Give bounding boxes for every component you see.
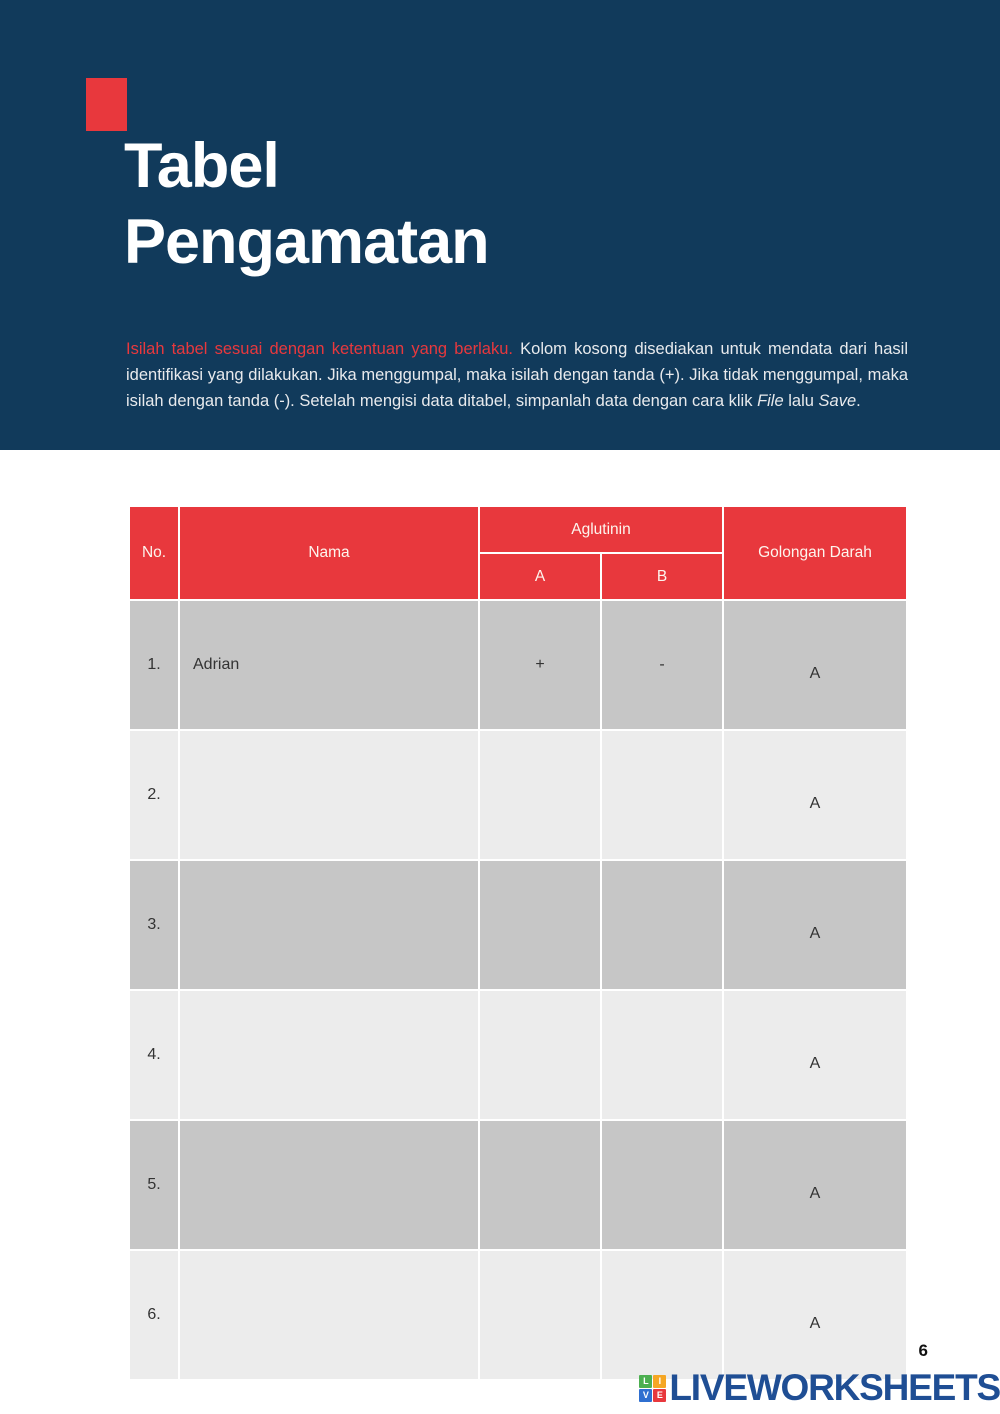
table-row: 1. Adrian + - A [130, 601, 906, 729]
liveworksheets-mark-icon: L I V E [639, 1375, 666, 1402]
liveworksheets-logo[interactable]: L I V E LIVEWORKSHEETS [639, 1371, 1000, 1405]
page-number: 6 [919, 1341, 928, 1361]
logo-tile-l: L [639, 1375, 652, 1388]
table-head: No. Nama Aglutinin Golongan Darah A B [130, 507, 906, 599]
cell-aglutinin-b[interactable] [602, 731, 722, 859]
table-row: 6. A [130, 1251, 906, 1379]
cell-no: 6. [130, 1251, 178, 1379]
cell-golongan-darah[interactable]: A [724, 1121, 906, 1249]
cell-aglutinin-a[interactable]: + [480, 601, 600, 729]
cell-golongan-darah[interactable]: A [724, 1251, 906, 1379]
table-row: 4. A [130, 991, 906, 1119]
column-header-aglutinin-a: A [480, 554, 600, 599]
table-row: 2. A [130, 731, 906, 859]
cell-no: 1. [130, 601, 178, 729]
table-header-row-1: No. Nama Aglutinin Golongan Darah [130, 507, 906, 552]
cell-nama[interactable] [180, 1251, 478, 1379]
cell-no: 5. [130, 1121, 178, 1249]
table-row: 5. A [130, 1121, 906, 1249]
instructions-paragraph: Isilah tabel sesuai dengan ketentuan yan… [126, 336, 908, 414]
cell-golongan-darah[interactable]: A [724, 601, 906, 729]
column-header-aglutinin-b: B [602, 554, 722, 599]
cell-aglutinin-b[interactable]: - [602, 601, 722, 729]
column-header-no: No. [130, 507, 178, 599]
header-band: Tabel Pengamatan Isilah tabel sesuai den… [0, 0, 1000, 450]
cell-aglutinin-a[interactable] [480, 861, 600, 989]
table-body: 1. Adrian + - A 2. A 3. A 4. A [130, 601, 906, 1379]
logo-tile-v: V [639, 1389, 652, 1402]
page-title-line-2: Pengamatan [124, 204, 904, 280]
cell-no: 4. [130, 991, 178, 1119]
cell-nama[interactable] [180, 731, 478, 859]
cell-no: 2. [130, 731, 178, 859]
table-row: 3. A [130, 861, 906, 989]
cell-nama[interactable] [180, 861, 478, 989]
cell-aglutinin-a[interactable] [480, 731, 600, 859]
cell-golongan-darah[interactable]: A [724, 861, 906, 989]
instructions-lead: Isilah tabel sesuai dengan ketentuan yan… [126, 340, 513, 358]
cell-nama[interactable] [180, 1121, 478, 1249]
cell-aglutinin-a[interactable] [480, 1121, 600, 1249]
logo-tile-e: E [653, 1389, 666, 1402]
cell-no: 3. [130, 861, 178, 989]
instructions-rest-3: . [856, 392, 861, 410]
cell-nama[interactable] [180, 991, 478, 1119]
page-title-line-1: Tabel [124, 128, 904, 204]
cell-nama[interactable]: Adrian [180, 601, 478, 729]
cell-aglutinin-b[interactable] [602, 1121, 722, 1249]
instructions-italic-save: Save [819, 392, 857, 410]
cell-aglutinin-b[interactable] [602, 991, 722, 1119]
liveworksheets-wordmark: LIVEWORKSHEETS [669, 1371, 1000, 1405]
column-header-golongan-darah: Golongan Darah [724, 507, 906, 599]
column-header-nama: Nama [180, 507, 478, 599]
cell-golongan-darah[interactable]: A [724, 731, 906, 859]
accent-square-icon [86, 78, 127, 131]
column-header-aglutinin: Aglutinin [480, 507, 722, 552]
observation-table: No. Nama Aglutinin Golongan Darah A B 1.… [128, 505, 908, 1381]
logo-tile-i: I [653, 1375, 666, 1388]
cell-golongan-darah[interactable]: A [724, 991, 906, 1119]
instructions-italic-file: File [757, 392, 784, 410]
instructions-rest-2: lalu [784, 392, 819, 410]
cell-aglutinin-b[interactable] [602, 1251, 722, 1379]
cell-aglutinin-b[interactable] [602, 861, 722, 989]
cell-aglutinin-a[interactable] [480, 991, 600, 1119]
page-title: Tabel Pengamatan [124, 128, 904, 280]
cell-aglutinin-a[interactable] [480, 1251, 600, 1379]
